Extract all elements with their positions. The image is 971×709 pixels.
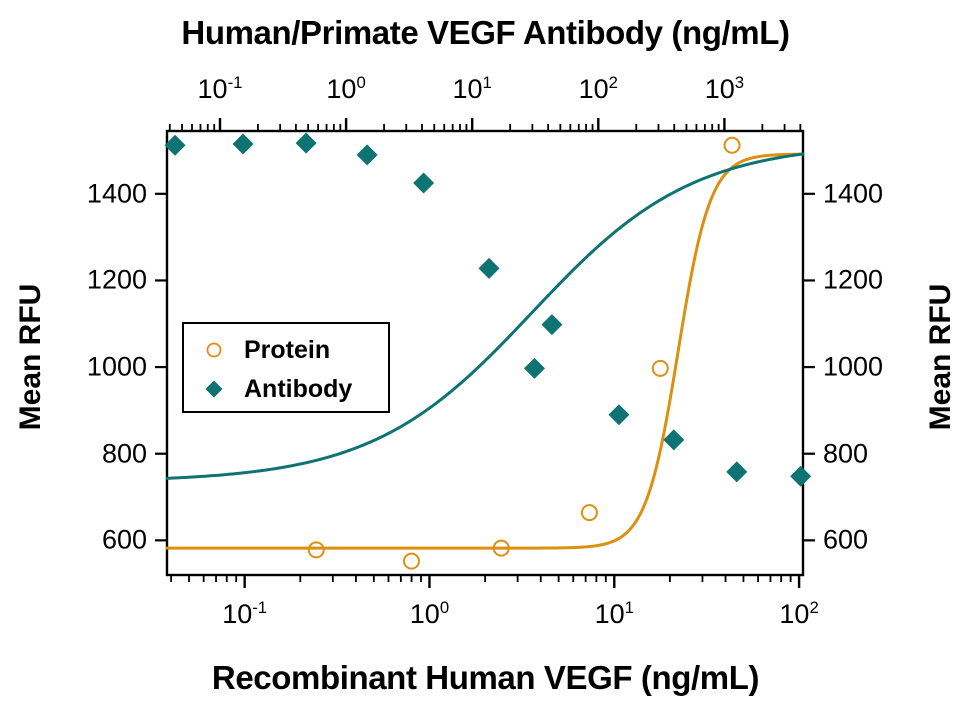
x-tick-label-top-0: 10-1 [198, 74, 243, 105]
y-tick-label-right-1000: 1000 [823, 352, 883, 383]
chart-figure: Human/Primate VEGF Antibody (ng/mL) Mean… [0, 0, 971, 709]
legend-label-antibody: Antibody [244, 375, 352, 404]
y-tick-label-right-1200: 1200 [823, 265, 883, 296]
y-tick-label-left-1400: 1400 [87, 178, 147, 209]
x-tick-label-top-2: 101 [453, 74, 492, 105]
open-circle-icon [184, 330, 244, 370]
x-tick-label-bottom-2: 101 [595, 599, 634, 630]
y-tick-label-right-1400: 1400 [823, 178, 883, 209]
y-tick-label-left-800: 800 [102, 438, 147, 469]
x-tick-label-bottom-3: 102 [779, 599, 818, 630]
y-tick-label-right-600: 600 [823, 525, 868, 556]
legend: Protein Antibody [182, 322, 390, 413]
filled-diamond-icon [184, 369, 244, 409]
bottom-axis-title: Recombinant Human VEGF (ng/mL) [0, 659, 971, 697]
x-tick-label-bottom-0: 10-1 [222, 599, 267, 630]
legend-item-protein: Protein [184, 330, 392, 370]
legend-label-protein: Protein [244, 336, 330, 365]
y-tick-label-left-600: 600 [102, 525, 147, 556]
y-tick-label-left-1200: 1200 [87, 265, 147, 296]
y-tick-label-left-1000: 1000 [87, 352, 147, 383]
x-tick-label-top-1: 100 [326, 74, 365, 105]
x-tick-label-top-3: 102 [579, 74, 618, 105]
y-tick-label-right-800: 800 [823, 438, 868, 469]
x-tick-label-bottom-1: 100 [410, 599, 449, 630]
legend-item-antibody: Antibody [184, 369, 392, 409]
x-tick-label-top-4: 103 [705, 74, 744, 105]
